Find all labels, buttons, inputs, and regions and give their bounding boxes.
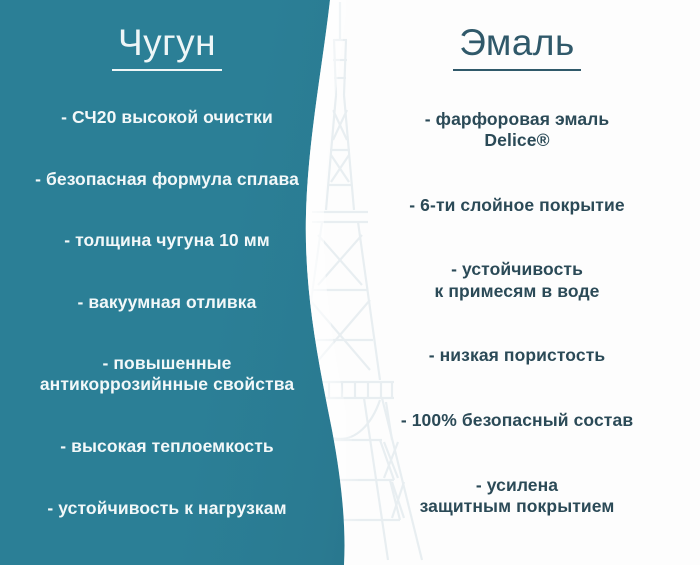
list-item: - безопасная формула сплава xyxy=(10,169,324,190)
list-item: - устойчивость к нагрузкам xyxy=(10,498,324,519)
right-column-heading: Эмаль xyxy=(334,0,700,71)
list-item: - 6-ти слойное покрытие xyxy=(344,195,690,216)
right-column-list: - фарфоровая эмаль Delice® - 6-ти слойно… xyxy=(334,71,700,565)
list-item: - повышенные антикоррозийнные свойства xyxy=(10,353,324,396)
left-column-heading: Чугун xyxy=(0,0,334,71)
list-item: - толщина чугуна 10 мм xyxy=(10,230,324,251)
right-column: Эмаль - фарфоровая эмаль Delice® - 6-ти … xyxy=(334,0,700,565)
list-item: - высокая теплоемкость xyxy=(10,436,324,457)
list-item: - устойчивость к примесям в воде xyxy=(344,259,690,302)
left-column: Чугун - СЧ20 высокой очистки - безопасна… xyxy=(0,0,334,565)
list-item: - 100% безопасный состав xyxy=(344,410,690,431)
columns-wrapper: Чугун - СЧ20 высокой очистки - безопасна… xyxy=(0,0,700,565)
left-heading-text: Чугун xyxy=(112,24,222,71)
list-item: - СЧ20 высокой очистки xyxy=(10,107,324,128)
list-item: - фарфоровая эмаль Delice® xyxy=(344,109,690,152)
right-heading-text: Эмаль xyxy=(453,24,581,71)
list-item: - низкая пористость xyxy=(344,345,690,366)
list-item: - вакуумная отливка xyxy=(10,292,324,313)
comparison-slide: Чугун - СЧ20 высокой очистки - безопасна… xyxy=(0,0,700,565)
list-item: - усилена защитным покрытием xyxy=(344,475,690,518)
left-column-list: - СЧ20 высокой очистки - безопасная форм… xyxy=(0,71,334,565)
